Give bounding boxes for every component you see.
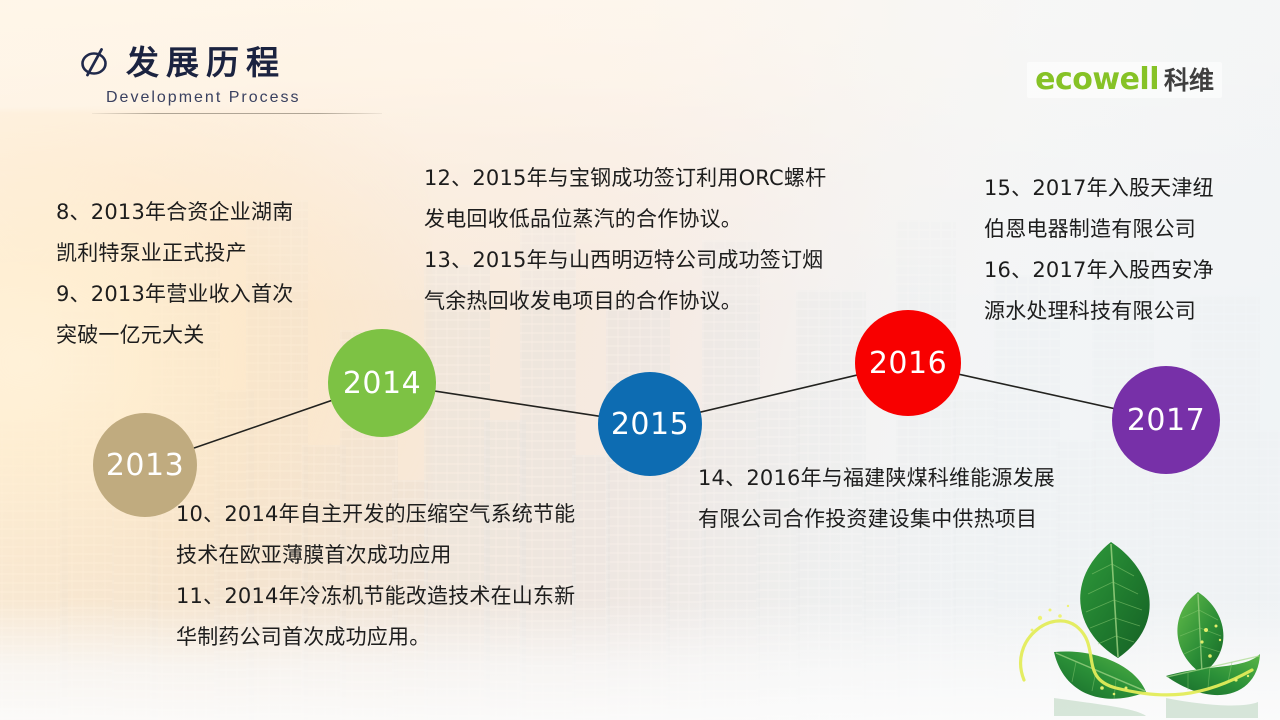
- milestone-line: 10、2014年自主开发的压缩空气系统节能: [176, 494, 575, 535]
- timeline-node-label: 2015: [611, 407, 689, 442]
- milestone-line: 突破一亿元大关: [56, 315, 293, 356]
- milestone-line: 伯恩电器制造有限公司: [984, 209, 1214, 250]
- timeline-node-label: 2014: [343, 366, 421, 401]
- milestone-line: 源水处理科技有限公司: [984, 291, 1214, 332]
- milestone-line: 8、2013年合资企业湖南: [56, 192, 293, 233]
- timeline-node-2017[interactable]: 2017: [1112, 366, 1220, 474]
- timeline-node-2016[interactable]: 2016: [855, 310, 961, 416]
- milestone-line: 11、2014年冷冻机节能改造技术在山东新: [176, 576, 575, 617]
- milestone-text-2014: 10、2014年自主开发的压缩空气系统节能技术在欧亚薄膜首次成功应用11、201…: [176, 494, 575, 658]
- milestone-text-2013: 8、2013年合资企业湖南凯利特泵业正式投产9、2013年营业收入首次突破一亿元…: [56, 192, 293, 356]
- milestone-line: 14、2016年与福建陕煤科维能源发展: [698, 458, 1055, 499]
- header-divider: [92, 113, 382, 114]
- timeline-node-label: 2016: [869, 346, 947, 381]
- slashed-circle-icon: [76, 44, 112, 80]
- brand-name-cn: 科维: [1164, 68, 1214, 93]
- milestone-line: 13、2015年与山西明迈特公司成功签订烟: [424, 240, 826, 281]
- page-subtitle: Development Process: [106, 89, 416, 107]
- milestone-text-2017: 15、2017年入股天津纽伯恩电器制造有限公司16、2017年入股西安净源水处理…: [984, 168, 1214, 332]
- brand-name-en: ecowell: [1035, 65, 1159, 95]
- milestone-text-2016: 14、2016年与福建陕煤科维能源发展有限公司合作投资建设集中供热项目: [698, 458, 1055, 540]
- timeline-node-label: 2013: [106, 448, 184, 483]
- timeline-node-label: 2017: [1127, 403, 1205, 438]
- milestone-line: 15、2017年入股天津纽: [984, 168, 1214, 209]
- milestone-line: 有限公司合作投资建设集中供热项目: [698, 499, 1055, 540]
- milestone-line: 华制药公司首次成功应用。: [176, 617, 575, 658]
- milestone-line: 9、2013年营业收入首次: [56, 274, 293, 315]
- page-title: 发展历程: [126, 46, 286, 79]
- slide-root: 发展历程 Development Process ecowell 科维 2013…: [0, 0, 1280, 720]
- timeline-node-2015[interactable]: 2015: [598, 372, 702, 476]
- slide-header: 发展历程 Development Process: [76, 44, 416, 114]
- brand-logo: ecowell 科维: [1027, 62, 1222, 98]
- green-leaves-icon: [1006, 530, 1276, 720]
- milestone-line: 气余热回收发电项目的合作协议。: [424, 281, 826, 322]
- milestone-text-2015: 12、2015年与宝钢成功签订利用ORC螺杆发电回收低品位蒸汽的合作协议。13、…: [424, 158, 826, 322]
- milestone-line: 技术在欧亚薄膜首次成功应用: [176, 535, 575, 576]
- milestone-line: 发电回收低品位蒸汽的合作协议。: [424, 199, 826, 240]
- milestone-line: 16、2017年入股西安净: [984, 250, 1214, 291]
- timeline-node-2014[interactable]: 2014: [328, 329, 436, 437]
- milestone-line: 12、2015年与宝钢成功签订利用ORC螺杆: [424, 158, 826, 199]
- milestone-line: 凯利特泵业正式投产: [56, 233, 293, 274]
